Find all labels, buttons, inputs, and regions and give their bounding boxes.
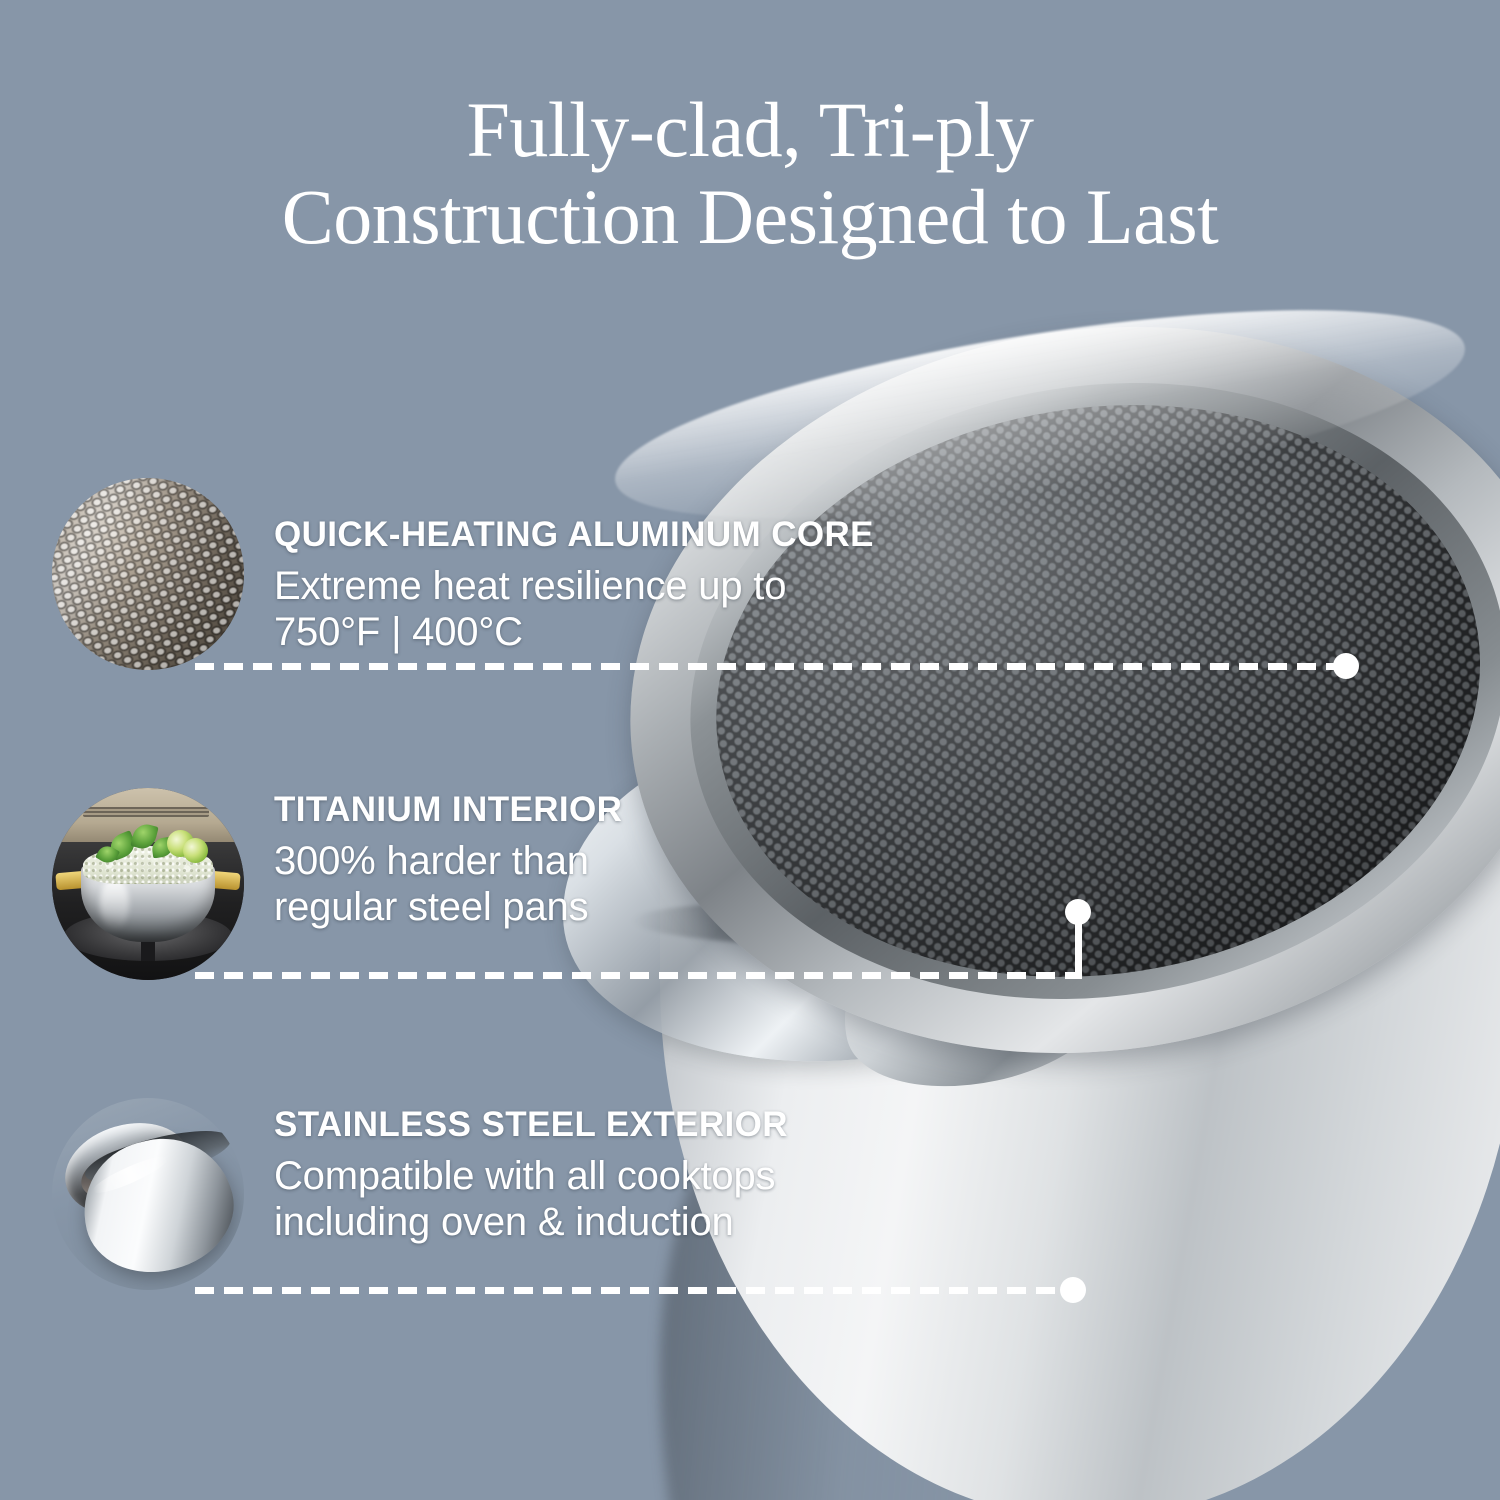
pot-handle-notch (825, 871, 1156, 1109)
feature-stainless-exterior-subtitle-line2: including oven & induction (274, 1200, 788, 1246)
rice-pot-art (52, 788, 244, 980)
product-photo (540, 300, 1500, 1500)
stove-vent (83, 807, 210, 817)
feature-titanium-interior-title: TITANIUM INTERIOR (274, 790, 622, 830)
lime-wedge (183, 838, 208, 863)
headline-line-2: Construction Designed to Last (60, 173, 1440, 260)
honeycomb-texture-art (52, 478, 244, 670)
feature-stainless-exterior-subtitle-line1: Compatible with all cooktops (274, 1154, 788, 1200)
feature-titanium-interior-subtitle-line2: regular steel pans (274, 885, 622, 931)
leader-endpoint-dot (1065, 899, 1091, 925)
pot-rim-outer (577, 261, 1500, 1119)
feature-stainless-exterior-title: STAINLESS STEEL EXTERIOR (274, 1105, 788, 1145)
honeycomb-aluminum-core-thumbnail (52, 478, 244, 670)
leader-endpoint-dot (1333, 653, 1359, 679)
leader-dash-horizontal (195, 663, 1350, 670)
leader-dash-horizontal (195, 1287, 1075, 1294)
feature-titanium-interior-text: TITANIUM INTERIOR 300% harder than regul… (274, 790, 622, 930)
headline-line-1: Fully-clad, Tri-ply (467, 86, 1034, 173)
leader-dash-horizontal (195, 972, 1082, 979)
leader-dash-vertical (1075, 918, 1082, 976)
feature-aluminum-core-title: QUICK-HEATING ALUMINUM CORE (274, 515, 874, 555)
polished-steel-base-thumbnail (52, 1098, 244, 1290)
feature-titanium-interior-subtitle-line1: 300% harder than (274, 839, 622, 885)
pot-rim-inner (645, 326, 1500, 1057)
pot-handle (549, 706, 1136, 1084)
rice-pot-on-stovetop-thumbnail (52, 788, 244, 980)
infographic-canvas: Fully-clad, Tri-ply Construction Designe… (0, 0, 1500, 1500)
feature-aluminum-core-text: QUICK-HEATING ALUMINUM CORE Extreme heat… (274, 515, 874, 655)
page-title: Fully-clad, Tri-ply Construction Designe… (0, 86, 1500, 261)
leader-endpoint-dot (1060, 1277, 1086, 1303)
feature-aluminum-core-subtitle: Extreme heat resilience up to 750°F | 40… (274, 564, 874, 655)
feature-stainless-exterior-text: STAINLESS STEEL EXTERIOR Compatible with… (274, 1105, 788, 1245)
pot-body (660, 650, 1500, 1500)
polished-steel-art (52, 1098, 244, 1290)
pot-honeycomb-interior (675, 351, 1500, 1030)
